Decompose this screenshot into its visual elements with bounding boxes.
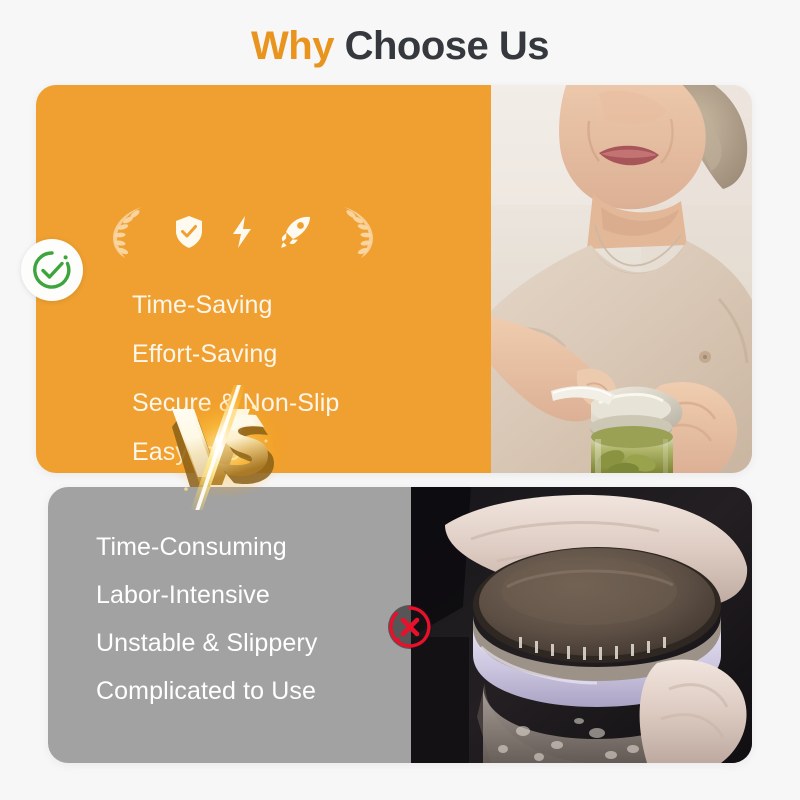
- list-item: Time-Consuming: [96, 523, 416, 571]
- laurel-right-icon: [338, 204, 382, 265]
- green-check-circle-icon: [21, 239, 83, 301]
- page-title-rest: Choose Us: [345, 24, 549, 68]
- list-item: Labor-Intensive: [96, 571, 416, 619]
- page-title: Why Choose Us: [0, 24, 800, 69]
- shield-check-icon: [174, 215, 204, 254]
- rocket-icon: [280, 215, 312, 254]
- elderly-woman-opening-jar-photo: [491, 85, 752, 473]
- pro-card-photo: [491, 85, 752, 473]
- con-drawback-list: Time-Consuming Labor-Intensive Unstable …: [96, 523, 416, 715]
- hands-struggling-jar-lid-photo: [411, 487, 752, 763]
- pro-benefit-list: Time-Saving Effort-Saving Secure & Non-S…: [132, 281, 472, 473]
- pro-card-text-panel: Time-Saving Effort-Saving Secure & Non-S…: [36, 85, 491, 473]
- con-card-text-panel: Time-Consuming Labor-Intensive Unstable …: [48, 487, 411, 763]
- list-item: Complicated to Use: [96, 667, 416, 715]
- red-x-circle-icon: [386, 603, 434, 651]
- pro-benefits-card: Time-Saving Effort-Saving Secure & Non-S…: [36, 85, 752, 473]
- page-title-accent: Why: [251, 24, 334, 68]
- lightning-bolt-icon: [230, 215, 254, 254]
- laurel-left-icon: [104, 204, 148, 265]
- list-item: Easy to Use: [132, 428, 472, 473]
- list-item: Time-Saving: [132, 281, 472, 330]
- list-item: Unstable & Slippery: [96, 619, 416, 667]
- list-item: Effort-Saving: [132, 330, 472, 379]
- trust-badge-row: [98, 203, 388, 265]
- con-card-photo: [411, 487, 752, 763]
- list-item: Secure & Non-Slip: [132, 379, 472, 428]
